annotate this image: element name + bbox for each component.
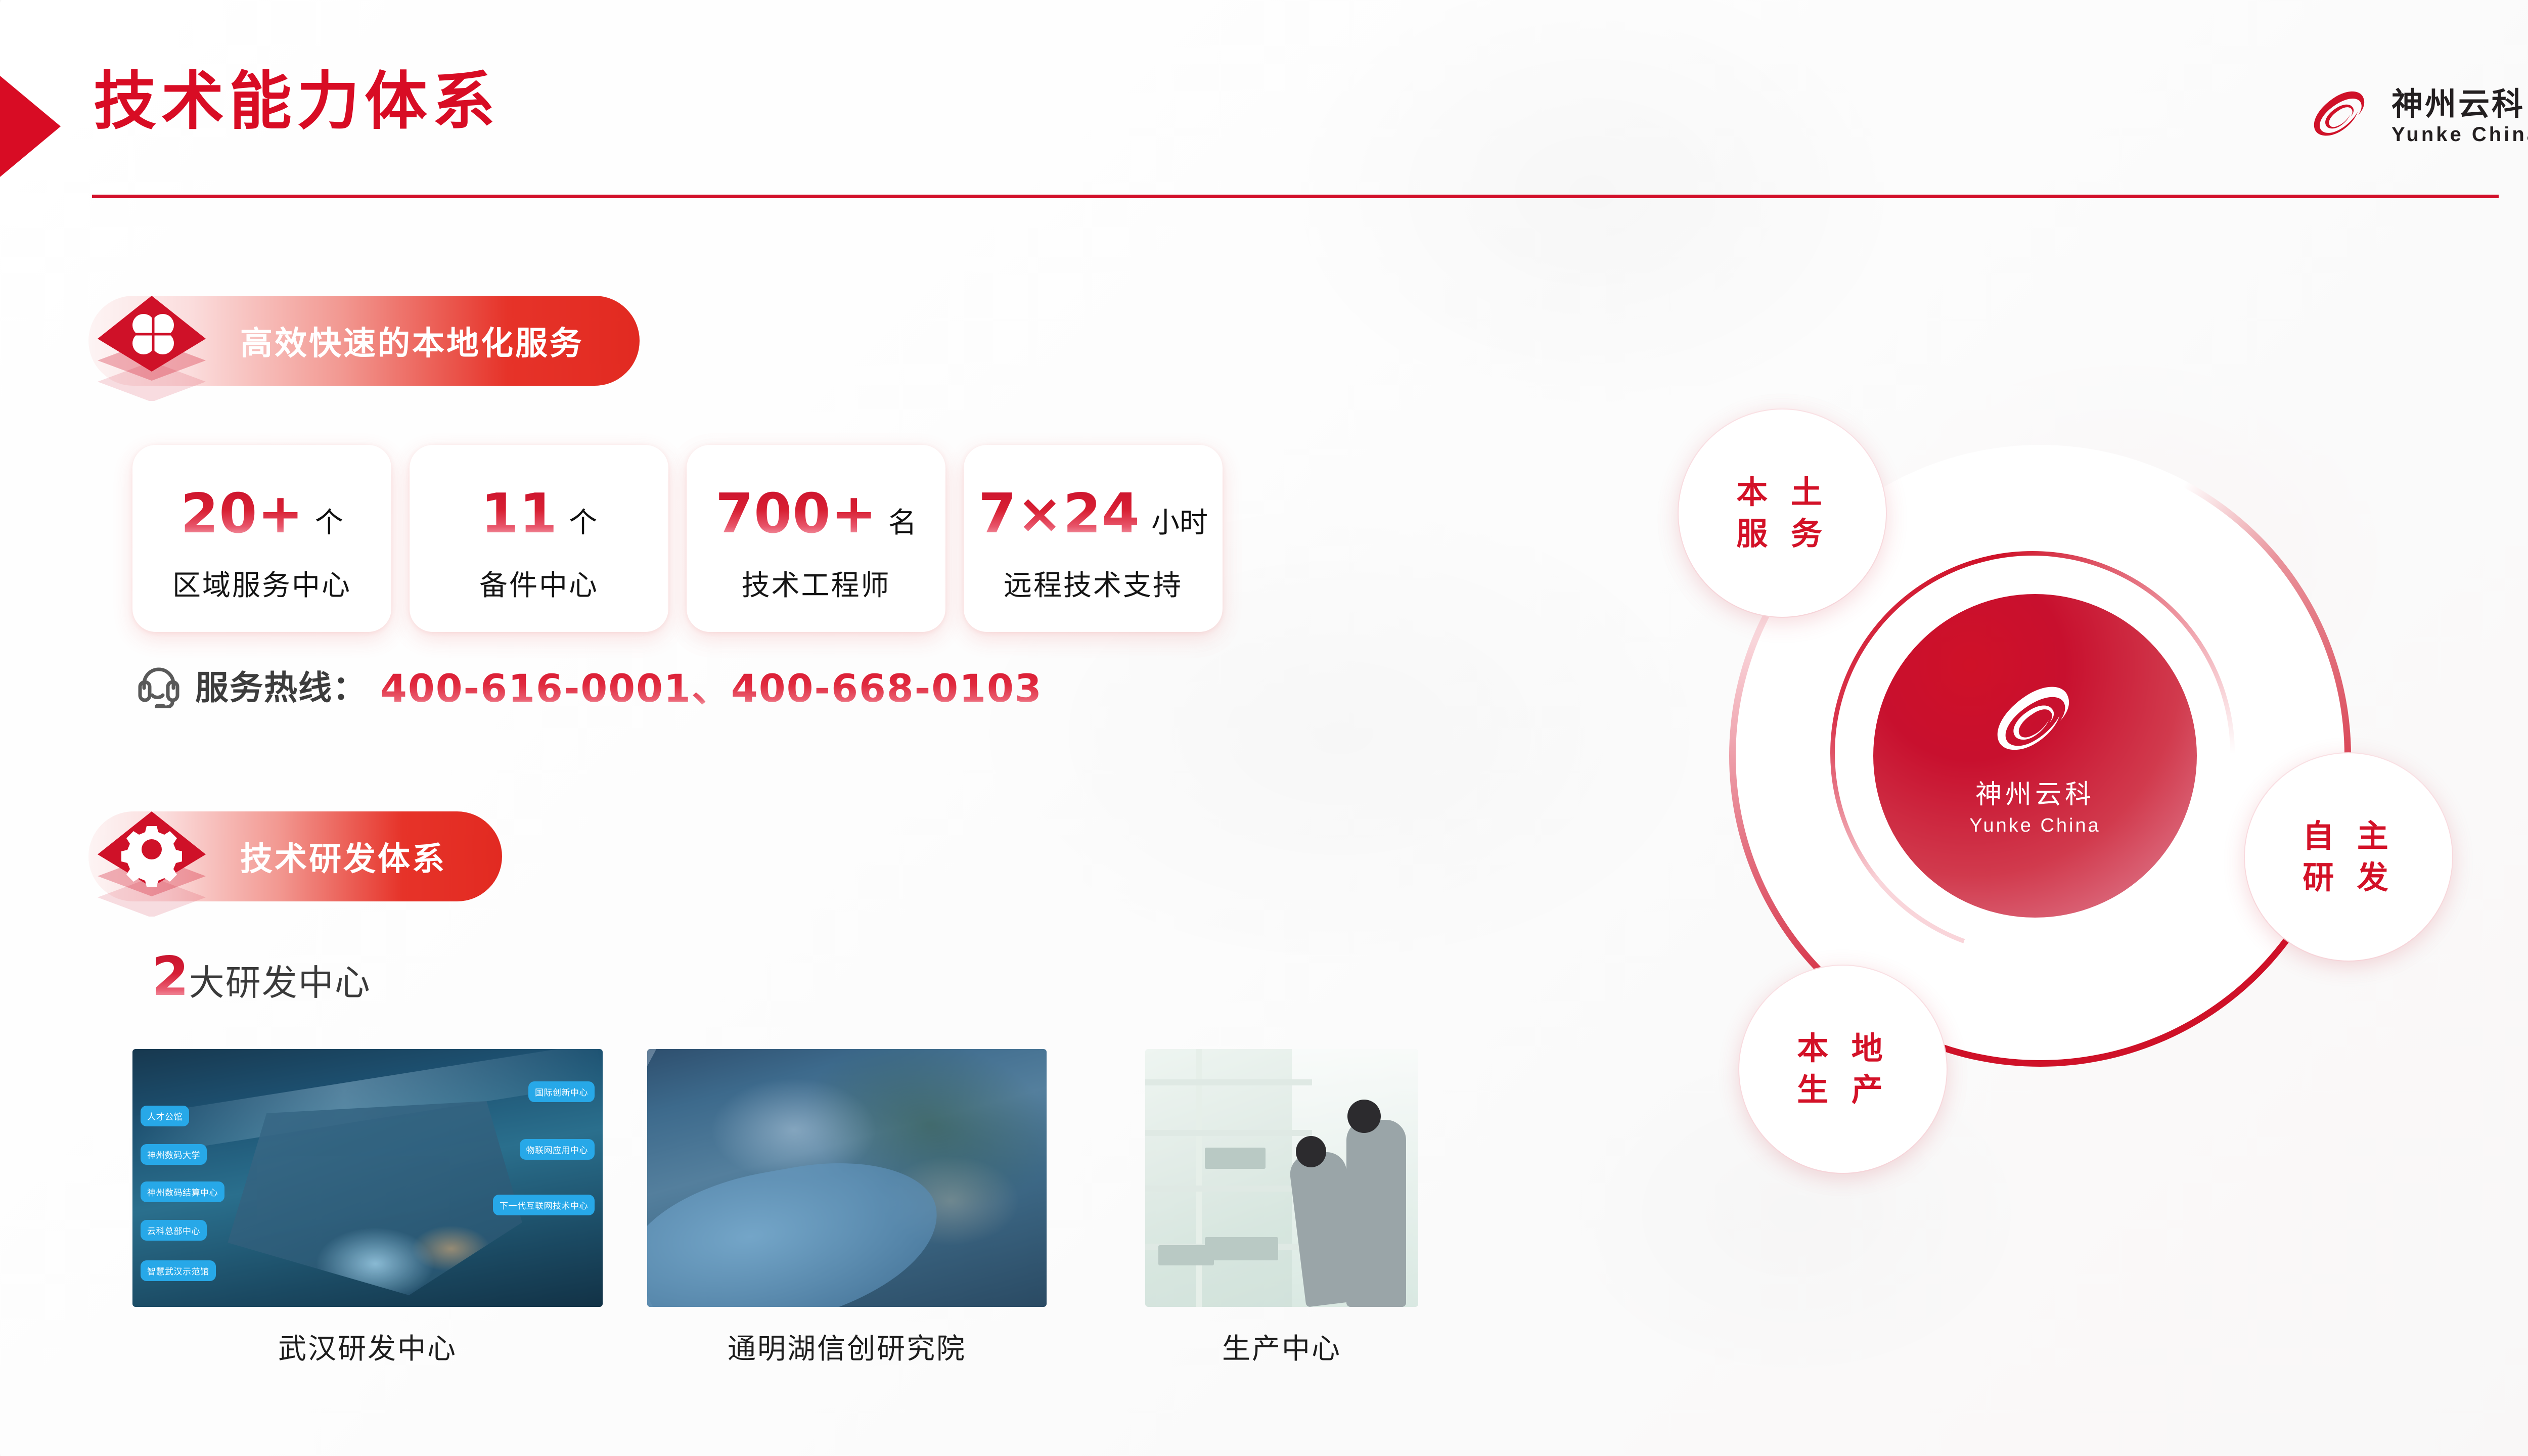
- stat-label: 技术工程师: [742, 563, 891, 604]
- node-line-2: 研 发: [2303, 857, 2395, 898]
- service-hotline: 服务热线： 400-616-0001、400-668-0103: [136, 657, 1043, 713]
- node-line-1: 本 土: [1736, 472, 1828, 513]
- diagram-node-independent-rd[interactable]: 自 主 研 发: [2245, 753, 2452, 961]
- node-line-2: 生 产: [1797, 1069, 1889, 1111]
- equipment-box: [1158, 1245, 1214, 1265]
- node-line-1: 本 地: [1797, 1028, 1889, 1069]
- stat-card[interactable]: 20+ 个 区域服务中心: [132, 445, 391, 632]
- rd-photo-item[interactable]: 人才公馆 神州数码大学 神州数码结算中心 云科总部中心 智慧武汉示范馆 国际创新…: [132, 1049, 603, 1367]
- node-line-1: 自 主: [2303, 815, 2395, 857]
- rd-count-text: 大研发中心: [189, 954, 371, 1006]
- brand-name-en: Yunke China: [2391, 124, 2528, 145]
- hotline-number[interactable]: 400-616-0001、400-668-0103: [380, 657, 1043, 713]
- section-badge-label: 高效快速的本地化服务: [240, 317, 584, 364]
- worker-figure: [1346, 1120, 1406, 1307]
- render-label: 云科总部中心: [141, 1220, 207, 1241]
- diagram-node-local-production[interactable]: 本 地 生 产: [1739, 966, 1947, 1173]
- stat-card[interactable]: 700+ 名 技术工程师: [687, 445, 945, 632]
- wuhan-campus-render-image: 人才公馆 神州数码大学 神州数码结算中心 云科总部中心 智慧武汉示范馆 国际创新…: [132, 1049, 603, 1307]
- headset-icon: [136, 662, 182, 708]
- stat-top: 20+ 个: [180, 482, 343, 545]
- hotline-label: 服务热线：: [195, 661, 367, 709]
- stat-card[interactable]: 7×24 小时 远程技术支持: [964, 445, 1223, 632]
- diagram-center-name-en: Yunke China: [1969, 815, 2101, 837]
- stat-unit: 个: [569, 500, 597, 541]
- stat-unit: 名: [888, 500, 917, 541]
- factory-shelving: [1145, 1049, 1312, 1307]
- stacked-diamond-clover-icon: [94, 285, 210, 401]
- stacked-diamond-gear-icon: [94, 800, 210, 917]
- header-divider-rule: [92, 195, 2499, 198]
- equipment-box: [1205, 1148, 1266, 1169]
- stat-value: 7×24: [978, 482, 1140, 545]
- diagram-node-local-service[interactable]: 本 土 服 务: [1679, 409, 1886, 617]
- stat-label: 区域服务中心: [172, 563, 351, 604]
- yunke-swirl-mark-icon: [2303, 83, 2378, 149]
- production-center-image: [1145, 1049, 1418, 1307]
- stat-value: 20+: [180, 482, 304, 545]
- page-title: 技术能力体系: [94, 66, 500, 138]
- rd-photo-caption: 生产中心: [1222, 1326, 1341, 1367]
- render-label: 智慧武汉示范馆: [141, 1260, 216, 1281]
- section-badge-local-service: 高效快速的本地化服务: [88, 296, 640, 386]
- stat-cards-row: 20+ 个 区域服务中心 11 个 备件中心 700+ 名 技术工程师 7×24…: [132, 445, 1223, 632]
- stat-unit: 小时: [1151, 500, 1208, 541]
- node-line-2: 服 务: [1736, 513, 1828, 555]
- render-label: 物联网应用中心: [520, 1139, 595, 1160]
- worker-head: [1296, 1136, 1326, 1167]
- render-label: 下一代互联网技术中心: [493, 1195, 595, 1215]
- render-label: 人才公馆: [141, 1106, 189, 1126]
- diagram-center-logo-circle: 神州云科 Yunke China: [1873, 594, 2197, 918]
- stat-label: 备件中心: [479, 563, 599, 604]
- title-arrow-marker: [0, 76, 61, 177]
- rd-count-number: 2: [152, 945, 189, 1008]
- rd-photo-caption: 通明湖信创研究院: [728, 1326, 966, 1367]
- worker-head: [1347, 1100, 1381, 1133]
- rd-photo-row: 人才公馆 神州数码大学 神州数码结算中心 云科总部中心 智慧武汉示范馆 国际创新…: [132, 1049, 1418, 1367]
- rd-center-count: 2 大研发中心: [152, 945, 371, 1008]
- brand-name-cn: 神州云科: [2391, 88, 2528, 120]
- rd-photo-caption: 武汉研发中心: [278, 1326, 457, 1367]
- rd-photo-item[interactable]: 生产中心: [1145, 1049, 1418, 1367]
- section-badge-rd-system: 技术研发体系: [88, 811, 502, 901]
- tongminghu-aerial-image: [647, 1049, 1047, 1307]
- section-badge-label: 技术研发体系: [240, 833, 446, 880]
- capability-circle-diagram: 神州云科 Yunke China 本 土 服 务 自 主 研 发 本 地 生 产: [1663, 399, 2523, 1259]
- brand-logo: 神州云科 Yunke China: [2303, 83, 2528, 149]
- stat-value: 11: [481, 482, 558, 545]
- stat-top: 7×24 小时: [978, 482, 1208, 545]
- render-label: 神州数码结算中心: [141, 1181, 224, 1202]
- rd-photo-item[interactable]: 通明湖信创研究院: [647, 1049, 1047, 1367]
- stat-value: 700+: [715, 482, 877, 545]
- yunke-swirl-mark-icon: [1977, 675, 2093, 769]
- diagram-center-name-cn: 神州云科: [1975, 773, 2095, 811]
- stat-unit: 个: [315, 500, 343, 541]
- stat-top: 700+ 名: [715, 482, 917, 545]
- render-label: 神州数码大学: [141, 1144, 207, 1165]
- stat-top: 11 个: [481, 482, 597, 545]
- render-label: 国际创新中心: [528, 1081, 595, 1102]
- stat-label: 远程技术支持: [1004, 563, 1183, 604]
- stat-card[interactable]: 11 个 备件中心: [410, 445, 668, 632]
- equipment-box: [1205, 1237, 1278, 1260]
